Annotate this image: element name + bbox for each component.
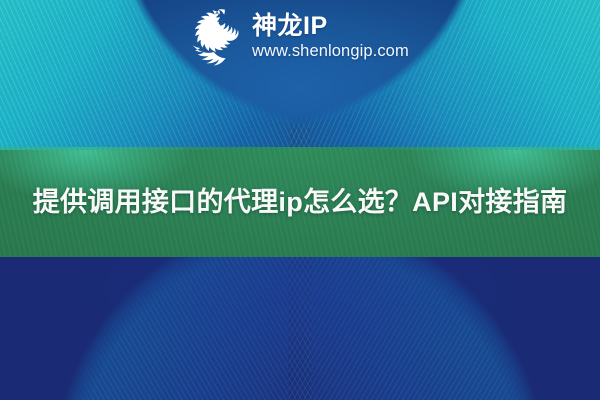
brand-logo: 神龙IP www.shenlongip.com <box>182 6 409 68</box>
brand-url: www.shenlongip.com <box>252 41 409 62</box>
page-title: 提供调用接口的代理ip怎么选？API对接指南 <box>0 147 600 257</box>
brand-name: 神龙IP <box>252 12 409 40</box>
bottom-vignette <box>0 257 600 400</box>
brand-text-block: 神龙IP www.shenlongip.com <box>252 12 409 62</box>
dragon-head-icon <box>182 6 244 68</box>
banner-bottom-background <box>0 257 600 400</box>
article-cover-banner: 神龙IP www.shenlongip.com 提供调用接口的代理ip怎么选？A… <box>0 0 600 400</box>
title-band: 提供调用接口的代理ip怎么选？API对接指南 <box>0 147 600 257</box>
